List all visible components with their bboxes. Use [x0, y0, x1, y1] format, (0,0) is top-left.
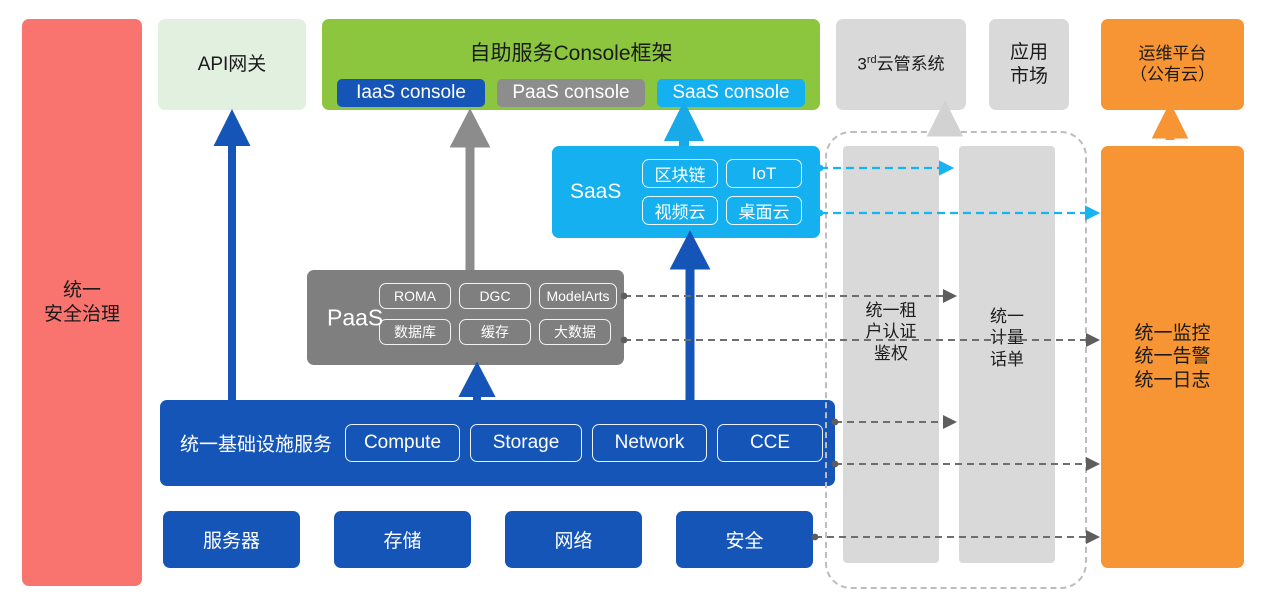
arrow-paas-to-console: [457, 118, 483, 270]
unified-infrastructure-service-bar: 统一基础设施服务 Compute Storage Network CCE: [160, 400, 835, 486]
paas-item-modelarts-label: ModelArts: [546, 288, 609, 304]
infra-item-compute[interactable]: Compute: [345, 424, 460, 462]
saas-item-video-cloud-label: 视频云: [655, 198, 706, 223]
saas-console-chip[interactable]: SaaS console: [657, 79, 805, 107]
resource-box-server-label: 服务器: [203, 526, 260, 553]
self-service-console-title: 自助服务Console框架: [322, 41, 820, 67]
infra-item-cce-label: CCE: [750, 432, 790, 454]
app-market-box: 应用市场: [989, 19, 1069, 110]
self-service-console-frame: 自助服务Console框架 IaaS console PaaS console …: [322, 19, 820, 110]
third-party-cloud-mgmt-box: 3rd云管系统: [836, 19, 966, 110]
paas-console-chip[interactable]: PaaS console: [497, 79, 645, 107]
unified-tenant-auth-label: 统一租户认证鉴权: [843, 300, 939, 364]
resource-box-security-label: 安全: [725, 526, 763, 553]
infra-item-compute-label: Compute: [364, 432, 441, 454]
ops-platform-box: 运维平台（公有云）: [1101, 19, 1244, 110]
paas-item-database-label: 数据库: [394, 322, 436, 342]
paas-item-database[interactable]: 数据库: [379, 319, 451, 345]
saas-item-desktop-cloud-label: 桌面云: [739, 198, 790, 223]
arrow-infra-to-api-gateway: [220, 118, 244, 400]
arrow-into-ops-platform: [1159, 112, 1181, 140]
resource-box-storage[interactable]: 存储: [334, 511, 471, 568]
saas-item-iot[interactable]: IoT: [726, 159, 802, 188]
infra-item-storage-label: Storage: [493, 432, 560, 454]
paas-item-modelarts[interactable]: ModelArts: [539, 283, 617, 309]
unified-metering-label: 统一计量话单: [959, 306, 1055, 370]
resource-box-server[interactable]: 服务器: [163, 511, 300, 568]
paas-item-bigdata[interactable]: 大数据: [539, 319, 611, 345]
ops-platform-label: 运维平台（公有云）: [1130, 44, 1215, 85]
arrow-infra-to-saas: [677, 240, 703, 400]
arrow-infra-to-paas: [465, 370, 489, 400]
paas-block: PaaS ROMA DGC ModelArts 数据库 缓存 大数据: [307, 270, 624, 365]
paas-item-cache-label: 缓存: [481, 322, 509, 342]
saas-item-blockchain[interactable]: 区块链: [642, 159, 718, 188]
arrow-saas-to-console: [672, 112, 696, 146]
infra-item-network[interactable]: Network: [592, 424, 707, 462]
architecture-diagram: 统一安全治理 API网关 自助服务Console框架 IaaS console …: [0, 0, 1265, 605]
resource-box-network[interactable]: 网络: [505, 511, 642, 568]
infra-item-storage[interactable]: Storage: [470, 424, 582, 462]
resource-box-network-label: 网络: [554, 526, 592, 553]
app-market-label: 应用市场: [1010, 41, 1048, 87]
saas-item-blockchain-label: 区块链: [655, 161, 706, 186]
saas-label: SaaS: [570, 180, 621, 204]
unified-security-governance-panel: 统一安全治理: [22, 19, 142, 586]
saas-item-video-cloud[interactable]: 视频云: [642, 196, 718, 225]
saas-console-label: SaaS console: [672, 81, 789, 104]
paas-item-bigdata-label: 大数据: [554, 322, 596, 342]
infra-item-cce[interactable]: CCE: [717, 424, 823, 462]
infra-item-network-label: Network: [615, 432, 685, 454]
third-party-cloud-mgmt-label: 3rd云管系统: [857, 54, 944, 75]
paas-item-roma[interactable]: ROMA: [379, 283, 451, 309]
ordinal-superscript: rd: [867, 54, 877, 66]
saas-item-iot-label: IoT: [752, 164, 777, 184]
unified-metering-column: 统一计量话单: [959, 146, 1055, 563]
resource-box-security[interactable]: 安全: [676, 511, 813, 568]
iaas-console-chip[interactable]: IaaS console: [337, 79, 485, 107]
paas-label: PaaS: [327, 304, 383, 331]
paas-item-dgc[interactable]: DGC: [459, 283, 531, 309]
resource-box-storage-label: 存储: [383, 526, 421, 553]
saas-item-desktop-cloud[interactable]: 桌面云: [726, 196, 802, 225]
api-gateway-label: API网关: [198, 53, 267, 76]
unified-ops-panel: 统一监控统一告警统一日志: [1101, 146, 1244, 568]
saas-block: SaaS 区块链 IoT 视频云 桌面云: [552, 146, 820, 238]
api-gateway-box: API网关: [158, 19, 306, 110]
paas-item-roma-label: ROMA: [394, 288, 436, 304]
paas-item-cache[interactable]: 缓存: [459, 319, 531, 345]
paas-console-label: PaaS console: [512, 81, 629, 104]
unified-tenant-auth-column: 统一租户认证鉴权: [843, 146, 939, 563]
unified-infrastructure-service-label: 统一基础设施服务: [180, 430, 332, 457]
paas-item-dgc-label: DGC: [479, 288, 510, 304]
iaas-console-label: IaaS console: [356, 81, 466, 104]
unified-security-governance-label: 统一安全治理: [44, 279, 120, 325]
unified-ops-panel-label: 统一监控统一告警统一日志: [1134, 322, 1210, 392]
